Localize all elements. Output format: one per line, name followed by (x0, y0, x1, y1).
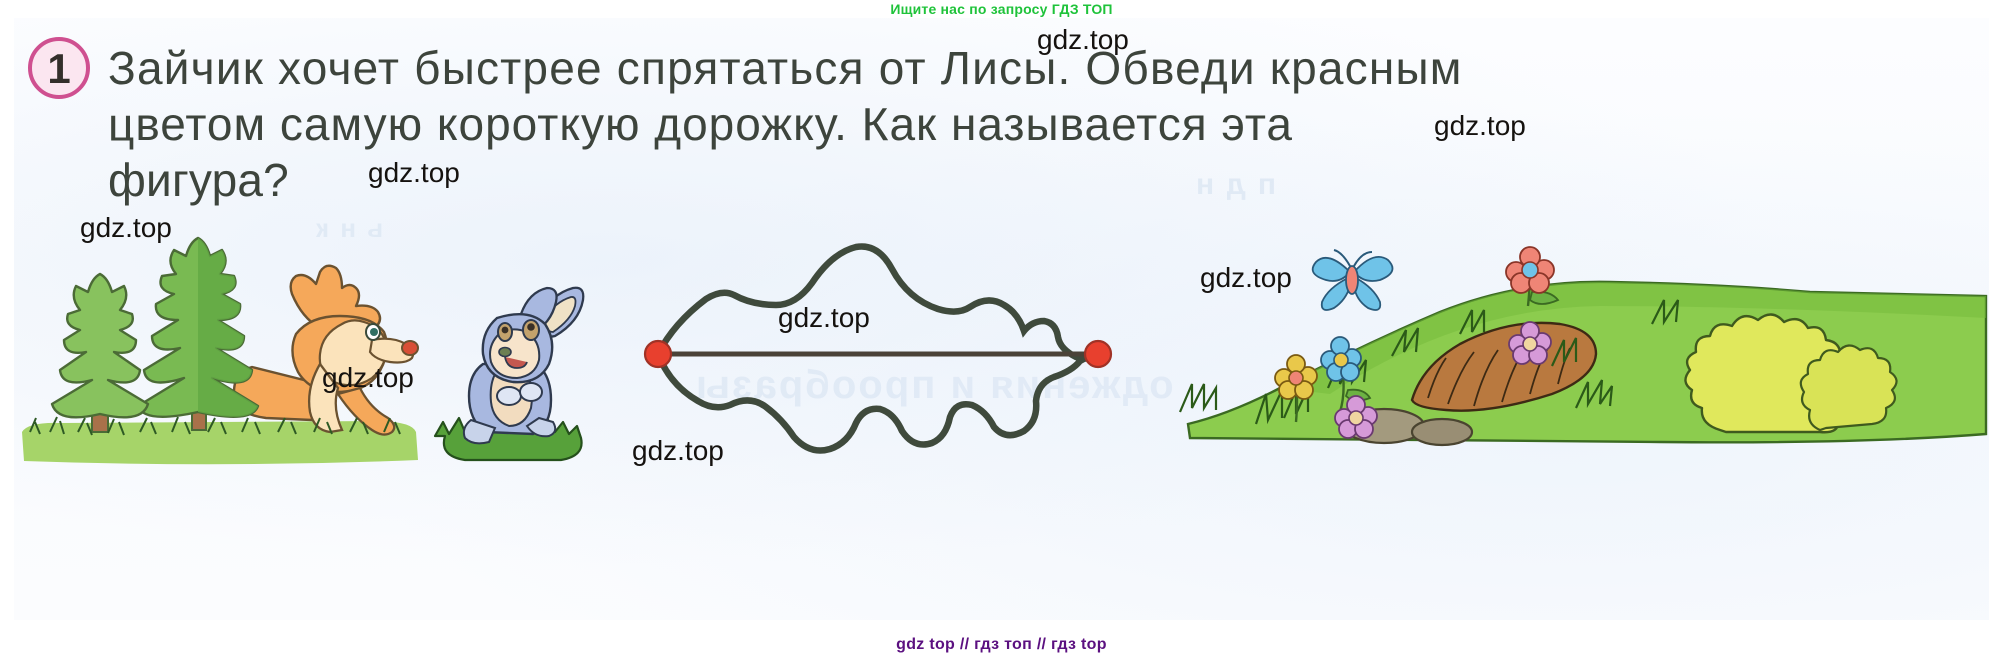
watermark-4: gdz.top (80, 212, 172, 244)
task-number-label: 1 (47, 48, 70, 90)
top-promo-banner: Ищите нас по запросу ГДЗ ТОП (0, 0, 2003, 18)
butterfly-icon (1313, 250, 1393, 310)
fir-tree-center (138, 238, 258, 430)
upper-curve (658, 246, 1098, 358)
watermark-5: gdz.top (322, 362, 414, 394)
illustration-fox-forest (20, 232, 420, 472)
fir-tree-left (52, 274, 148, 432)
left-endpoint-dot (645, 341, 671, 367)
fox (234, 266, 418, 435)
right-endpoint-dot (1085, 341, 1111, 367)
task-text-line-2: цветом самую короткую дорожку. Как назыв… (108, 96, 1988, 152)
watermark-7: gdz.top (632, 435, 724, 467)
watermark-6: gdz.top (778, 302, 870, 334)
watermark-3: gdz.top (368, 157, 460, 189)
watermark-1: gdz.top (1037, 24, 1129, 56)
task-number-badge: 1 (28, 37, 90, 99)
illustration-rabbit (425, 278, 605, 468)
lower-curve (658, 354, 1098, 451)
bottom-promo-footer: gdz top // гдз топ // гдз top (0, 632, 2003, 658)
watermark-2: gdz.top (1434, 110, 1526, 142)
page-root: оджения и прообразы п д н ь н к Ищите на… (0, 0, 2003, 658)
grass-strip (22, 421, 418, 464)
rabbit-body (464, 288, 583, 444)
illustration-path-figure (640, 225, 1120, 460)
watermark-8: gdz.top (1200, 262, 1292, 294)
